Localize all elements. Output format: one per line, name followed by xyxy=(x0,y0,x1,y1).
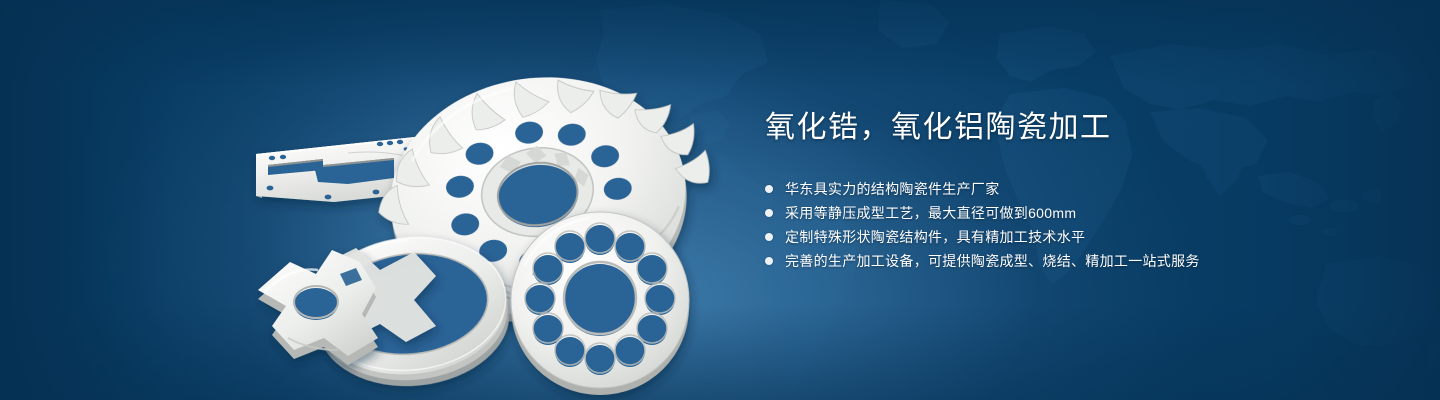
page-title: 氧化锆，氧化铝陶瓷加工 xyxy=(765,108,1365,148)
list-item: 完善的生产加工设备，可提供陶瓷成型、烧结、精加工一站式服务 xyxy=(765,249,1365,273)
hero-banner: 氧化锆，氧化铝陶瓷加工 华东具实力的结构陶瓷件生产厂家 采用等静压成型工艺，最大… xyxy=(0,0,1440,400)
feature-text: 定制特殊形状陶瓷结构件，具有精加工技术水平 xyxy=(785,225,1085,249)
feature-text: 华东具实力的结构陶瓷件生产厂家 xyxy=(785,177,1000,201)
bullet-dot-icon xyxy=(765,233,773,241)
list-item: 华东具实力的结构陶瓷件生产厂家 xyxy=(765,177,1365,201)
feature-text: 完善的生产加工设备，可提供陶瓷成型、烧结、精加工一站式服务 xyxy=(785,249,1200,273)
list-item: 采用等静压成型工艺，最大直径可做到600mm xyxy=(765,201,1365,225)
list-item: 定制特殊形状陶瓷结构件，具有精加工技术水平 xyxy=(765,225,1365,249)
product-photo-group xyxy=(228,38,698,390)
bullet-dot-icon xyxy=(765,185,773,193)
marketing-copy: 氧化锆，氧化铝陶瓷加工 华东具实力的结构陶瓷件生产厂家 采用等静压成型工艺，最大… xyxy=(765,108,1365,273)
feature-list: 华东具实力的结构陶瓷件生产厂家 采用等静压成型工艺，最大直径可做到600mm 定… xyxy=(765,177,1365,273)
bullet-dot-icon xyxy=(765,209,773,217)
feature-text: 采用等静压成型工艺，最大直径可做到600mm xyxy=(785,201,1076,225)
bullet-dot-icon xyxy=(765,257,773,265)
ceramic-perforated-disc xyxy=(511,212,689,395)
